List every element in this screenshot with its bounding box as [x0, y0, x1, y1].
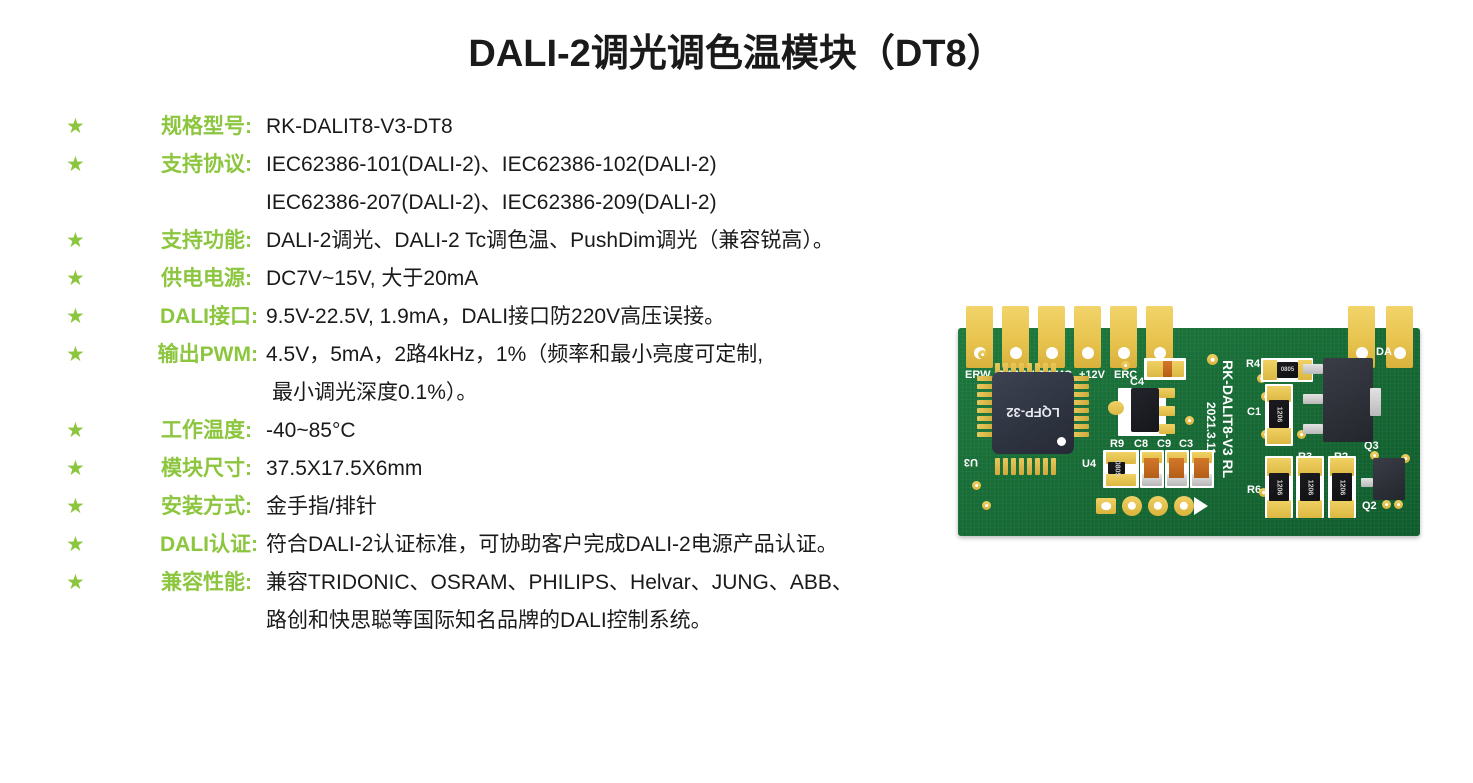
pcb-designator-u3: U3: [964, 456, 978, 468]
pcb-component-c8: [1144, 458, 1159, 478]
star-icon: ★: [66, 264, 92, 294]
pcb-via: [978, 350, 987, 359]
spec-row: ★ DALI认证: 符合DALI-2认证标准，可协助客户完成DALI-2电源产品…: [66, 530, 1026, 568]
pcb-tab-gap: [1375, 306, 1386, 328]
pcb-dali-tab: [1386, 306, 1413, 368]
pcb-designator-c9: C9: [1157, 438, 1171, 450]
pcb-test-pad-square: [1096, 498, 1116, 514]
star-icon: ★: [66, 226, 92, 256]
pcb-designator-c8: C8: [1134, 438, 1148, 450]
spec-value: DC7V~15V, 大于20mA: [252, 264, 1026, 294]
spec-row: ★ 模块尺寸: 37.5X17.5X6mm: [66, 454, 1026, 492]
pcb-via: [1382, 500, 1391, 509]
pcb-designator-c1: C1: [1247, 406, 1261, 418]
spec-label: 输出PWM:: [92, 340, 258, 370]
pcb-chip-pins-bottom: [995, 458, 1056, 475]
spec-label: 规格型号:: [92, 112, 252, 142]
spec-label: 支持功能:: [92, 226, 252, 256]
star-icon: ★: [66, 302, 92, 332]
spec-value-continuation: 最小调光深度0.1%）。: [258, 378, 1026, 416]
pcb-pad: [1159, 406, 1175, 416]
pcb-tab-gap: [1029, 306, 1038, 328]
pcb-via: [1121, 361, 1130, 370]
spec-row: ★ 兼容性能: 兼容TRIDONIC、OSRAM、PHILIPS、Helvar、…: [66, 568, 1026, 606]
pcb-pad: [1159, 424, 1175, 434]
spec-value: 金手指/排针: [252, 492, 1026, 522]
pcb-regulator-ic: [1131, 388, 1159, 432]
pcb-tab-gap: [1101, 306, 1110, 328]
pcb-designator-c4: C4: [1130, 376, 1144, 388]
star-icon: ★: [66, 416, 92, 446]
spec-label: 工作温度:: [92, 416, 252, 446]
pcb-component-r4: 0805: [1277, 362, 1298, 378]
pcb-silkscreen-model: RK-DALIT8-V3 RL: [1220, 360, 1236, 478]
pcb-component-q3: [1323, 358, 1373, 442]
pcb-pad: [1159, 388, 1175, 398]
pcb-via: [982, 501, 991, 510]
spec-row: ★ DALI接口: 9.5V-22.5V, 1.9mA，DALI接口防220V高…: [66, 302, 1026, 340]
pcb-component-c3: [1194, 458, 1209, 478]
pcb-component-r9: 0805: [1108, 462, 1125, 474]
pcb-component-q2: [1373, 458, 1405, 500]
pcb-via: [972, 481, 981, 490]
star-icon: ★: [66, 492, 92, 522]
spec-value: -40~85°C: [252, 416, 1026, 446]
pcb-gold-finger-tab: [1002, 306, 1029, 368]
spec-row: ★ 支持功能: DALI-2调光、DALI-2 Tc调色温、PushDim调光（…: [66, 226, 1026, 264]
star-icon: ★: [66, 150, 92, 180]
pcb-gold-finger-tab: [1074, 306, 1101, 368]
pcb-designator-r4: R4: [1246, 358, 1260, 370]
star-icon: ★: [66, 454, 92, 484]
pcb-component-r2: 1206: [1332, 473, 1352, 501]
spec-value: 符合DALI-2认证标准，可协助客户完成DALI-2电源产品认证。: [258, 530, 1026, 560]
pcb-component-c1: 1206: [1269, 400, 1289, 428]
star-icon: ★: [66, 112, 92, 142]
pcb-designator-r9: R9: [1110, 438, 1124, 450]
pcb-via: [1207, 354, 1218, 365]
spec-value: RK-DALIT8-V3-DT8: [252, 112, 1026, 142]
pcb-chip-pin1-dot: [1057, 437, 1066, 446]
star-icon: ★: [66, 568, 92, 598]
pcb-pad: [1147, 361, 1163, 377]
spec-label: DALI认证:: [92, 530, 258, 560]
pcb-tab-gap: [1413, 306, 1420, 328]
spec-row: ★ 支持协议: IEC62386-101(DALI-2)、IEC62386-10…: [66, 150, 1026, 188]
pcb-component-r3: 1206: [1300, 473, 1320, 501]
pcb-designator-u4: U4: [1082, 458, 1096, 470]
spec-row: ★ 规格型号: RK-DALIT8-V3-DT8: [66, 112, 1026, 150]
spec-row: ★ 工作温度: -40~85°C: [66, 416, 1026, 454]
spec-label: 供电电源:: [92, 264, 252, 294]
pcb-top-cutout: [1173, 306, 1348, 328]
spec-value: 37.5X17.5X6mm: [252, 454, 1026, 484]
spec-value: 9.5V-22.5V, 1.9mA，DALI接口防220V高压误接。: [258, 302, 1026, 332]
page-title: DALI-2调光调色温模块（DT8）: [0, 22, 1473, 77]
spec-label: 模块尺寸:: [92, 454, 252, 484]
pcb-gold-finger-tab: [966, 306, 993, 368]
pcb-via: [1185, 416, 1194, 425]
star-icon: ★: [66, 340, 92, 370]
spec-list: ★ 规格型号: RK-DALIT8-V3-DT8 ★ 支持协议: IEC6238…: [66, 112, 1026, 644]
pcb-chip-lqfp32: LQFP-32: [992, 372, 1074, 454]
spec-continuation-row: 最小调光深度0.1%）。: [66, 378, 1026, 416]
pcb-via: [1148, 496, 1168, 516]
pcb-via: [1174, 496, 1194, 516]
spec-value-continuation: 路创和快思聪等国际知名品牌的DALI控制系统。: [252, 606, 1026, 644]
pcb-silkscreen-date: 2021.3.11: [1204, 402, 1218, 455]
pcb-gold-finger-tab: [1110, 306, 1137, 368]
pcb-component-r6: 1206: [1269, 473, 1289, 501]
spec-value: 兼容TRIDONIC、OSRAM、PHILIPS、Helvar、JUNG、ABB…: [252, 568, 1026, 598]
pcb-tab-gap: [958, 306, 966, 328]
pcb-component-c9: [1169, 458, 1184, 478]
pcb-pad: [1172, 361, 1184, 377]
pcb-designator-q2: Q2: [1362, 500, 1377, 512]
star-icon: ★: [66, 530, 92, 560]
pcb-via: [1394, 500, 1403, 509]
pcb-designator-c3: C3: [1179, 438, 1193, 450]
pcb-gold-finger-tab: [1038, 306, 1065, 368]
spec-continuation-row: 路创和快思聪等国际知名品牌的DALI控制系统。: [66, 606, 1026, 644]
spec-row: ★ 供电电源: DC7V~15V, 大于20mA: [66, 264, 1026, 302]
spec-continuation-row: IEC62386-207(DALI-2)、IEC62386-209(DALI-2…: [66, 188, 1026, 226]
pcb-tab-gap: [993, 306, 1002, 328]
spec-value: DALI-2调光、DALI-2 Tc调色温、PushDim调光（兼容锐高）。: [252, 226, 1026, 256]
spec-value-continuation: IEC62386-207(DALI-2)、IEC62386-209(DALI-2…: [252, 188, 1026, 226]
pcb-tab-gap: [1137, 306, 1146, 328]
pcb-chip-pins-right: [1072, 376, 1089, 437]
spec-value: 4.5V，5mA，2路4kHz，1%（频率和最小亮度可定制,: [258, 340, 1026, 370]
pcb-product-image: ERW PWMW PWMC +12V ERC GND DA LQFP-32 U3…: [958, 306, 1420, 536]
pcb-pad: [1108, 401, 1124, 415]
spec-label: 兼容性能:: [92, 568, 252, 598]
spec-label: 安装方式:: [92, 492, 252, 522]
spec-label: 支持协议:: [92, 150, 252, 180]
spec-label: DALI接口:: [92, 302, 258, 332]
pcb-pad-label-da: DA: [1376, 346, 1392, 358]
pcb-component-c4: [1163, 361, 1172, 377]
pcb-via: [1122, 496, 1142, 516]
pcb-polarity-marker-icon: [1194, 497, 1208, 515]
spec-row: ★ 输出PWM: 4.5V，5mA，2路4kHz，1%（频率和最小亮度可定制,: [66, 340, 1026, 378]
spec-row: ★ 安装方式: 金手指/排针: [66, 492, 1026, 530]
spec-value: IEC62386-101(DALI-2)、IEC62386-102(DALI-2…: [252, 150, 1026, 180]
pcb-tab-gap: [1065, 306, 1074, 328]
